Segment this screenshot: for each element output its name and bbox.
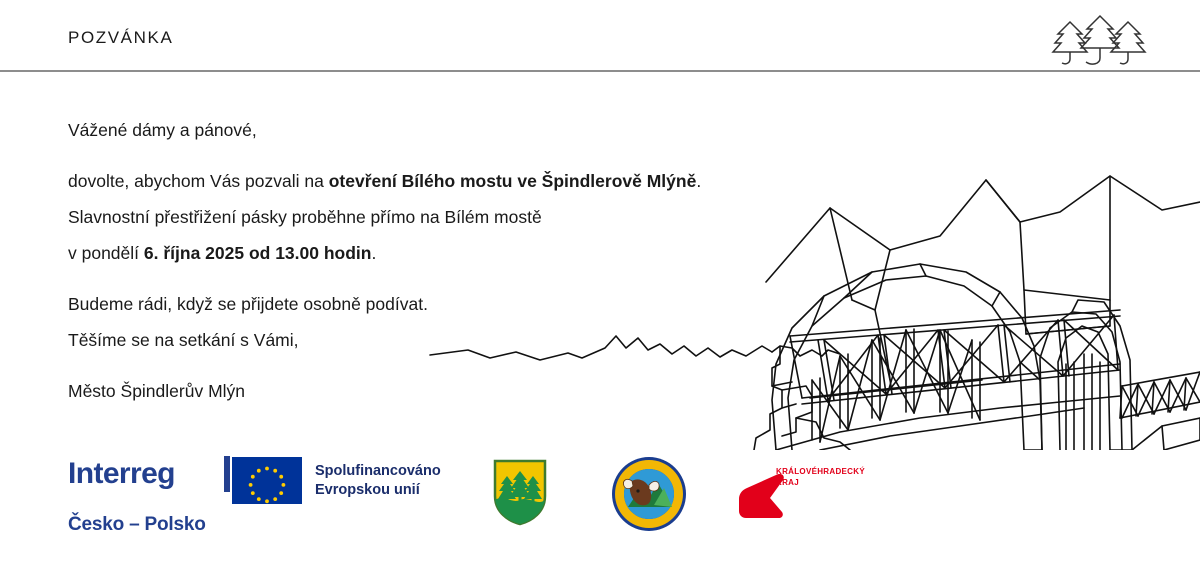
page-title: POZVÁNKA — [68, 28, 173, 48]
kraj-label-line1: KRÁLOVÉHRADECKÝ — [776, 467, 865, 476]
paragraph-gap — [68, 358, 828, 373]
glad-line: Budeme rádi, když se přijdete osobně pod… — [68, 286, 828, 322]
paragraph-gap — [68, 271, 828, 286]
date-prefix: v pondělí — [68, 243, 144, 263]
date-line: v pondělí 6. října 2025 od 13.00 hodin. — [68, 235, 828, 271]
kralovehradecky-kraj-logo: KRÁLOVÉHRADECKÝ KRAJ — [736, 460, 916, 520]
invite-line: dovolte, abychom Vás pozvali na otevření… — [68, 163, 828, 199]
header-divider — [0, 70, 1200, 72]
invitation-body: Vážené dámy a pánové, dovolte, abychom V… — [68, 112, 828, 409]
invitation-page: POZVÁNKA — [0, 0, 1200, 565]
date-suffix: . — [371, 243, 376, 263]
kraj-label: KRÁLOVÉHRADECKÝ KRAJ — [776, 466, 865, 488]
date-highlight: 6. října 2025 od 13.00 hodin — [144, 243, 372, 263]
three-spruce-trees-icon — [1048, 8, 1152, 70]
signature-line: Město Špindlerův Mlýn — [68, 373, 828, 409]
kraj-label-line2: KRAJ — [776, 478, 799, 487]
looking-forward-line: Těšíme se na setkání s Vámi, — [68, 322, 828, 358]
greeting-line: Vážené dámy a pánové, — [68, 112, 828, 148]
kraj-logo-wrapper: KRÁLOVÉHRADECKÝ KRAJ — [0, 448, 1200, 565]
paragraph-gap — [68, 148, 828, 163]
ceremony-line: Slavnostní přestřižení pásky proběhne př… — [68, 199, 828, 235]
invite-highlight: otevření Bílého mostu ve Špindlerově Mlý… — [329, 171, 697, 191]
invite-suffix: . — [696, 171, 701, 191]
invite-prefix: dovolte, abychom Vás pozvali na — [68, 171, 329, 191]
